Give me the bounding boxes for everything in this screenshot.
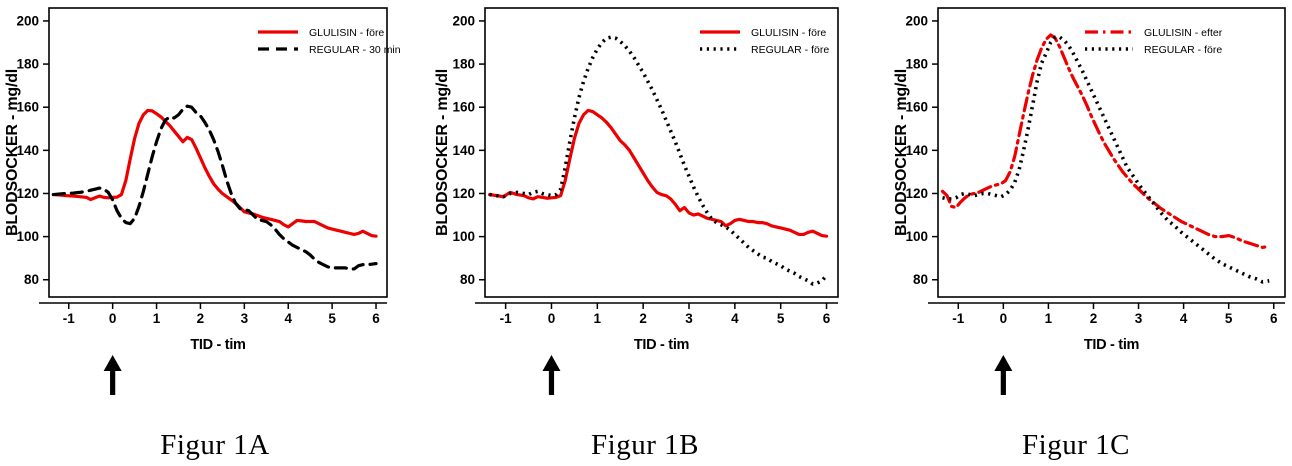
y-axis-title: BLODSOCKER - mg/dl — [4, 69, 21, 236]
x-tick-label: 6 — [372, 311, 380, 326]
x-tick-label: 4 — [731, 311, 739, 326]
plot-svg-a: 80100120140160180200-10123456TID - timBL… — [0, 0, 430, 410]
x-tick-label: 6 — [1270, 311, 1278, 326]
figure-panel-a: 80100120140160180200-10123456TID - timBL… — [0, 0, 430, 466]
meal-marker-arrow — [542, 355, 560, 395]
series-group — [490, 37, 827, 284]
y-tick-label: 160 — [452, 100, 475, 115]
legend-label-regular: REGULAR - 30 min — [309, 44, 401, 56]
legend: GLULISIN - föreREGULAR - 30 min — [258, 27, 401, 56]
caption-figur-1b: Figur 1B — [430, 429, 896, 462]
legend: GLULISIN - efterREGULAR - före — [1085, 27, 1223, 56]
x-tick-label: -1 — [63, 311, 75, 326]
chart-a: 80100120140160180200-10123456TID - timBL… — [0, 0, 430, 410]
legend-label-glulisin: GLULISIN - före — [751, 27, 826, 39]
x-tick-label: 5 — [1225, 311, 1233, 326]
x-tick-label: 3 — [241, 311, 249, 326]
meal-marker-arrow — [104, 355, 122, 395]
plot-svg-c: 80100120140160180200-10123456TID - timBL… — [860, 0, 1292, 410]
legend-label-glulisin: GLULISIN - före — [309, 27, 384, 39]
legend: GLULISIN - föreREGULAR - före — [700, 27, 829, 56]
x-tick-label: 1 — [153, 311, 161, 326]
x-tick-label: 0 — [1000, 311, 1008, 326]
meal-marker-arrow — [994, 355, 1012, 395]
y-tick-label: 200 — [16, 13, 39, 28]
x-tick-label: 0 — [548, 311, 556, 326]
series-line-glulisin — [490, 110, 827, 236]
y-tick-label: 100 — [452, 229, 475, 244]
arrow-head — [994, 355, 1012, 371]
figure-panel-b: 80100120140160180200-10123456TID - timBL… — [430, 0, 860, 466]
legend-label-regular: REGULAR - före — [751, 44, 829, 56]
x-tick-label: 4 — [284, 311, 292, 326]
x-tick-label: 5 — [328, 311, 336, 326]
plot-svg-b: 80100120140160180200-10123456TID - timBL… — [430, 0, 860, 410]
y-tick-label: 80 — [913, 272, 928, 287]
x-axis-title: TID - tim — [634, 337, 689, 353]
x-tick-label: 2 — [639, 311, 647, 326]
x-tick-label: 4 — [1180, 311, 1188, 326]
arrow-head — [542, 355, 560, 371]
y-tick-label: 180 — [452, 57, 475, 72]
x-tick-label: 1 — [1045, 311, 1053, 326]
x-tick-label: 1 — [594, 311, 602, 326]
x-tick-label: 6 — [823, 311, 831, 326]
x-tick-label: 3 — [1135, 311, 1143, 326]
figure-panels-row: 80100120140160180200-10123456TID - timBL… — [0, 0, 1292, 466]
y-tick-label: 140 — [452, 143, 475, 158]
x-axis-title: TID - tim — [190, 337, 245, 353]
series-group — [943, 35, 1270, 282]
legend-label-regular: REGULAR - före — [1144, 44, 1222, 56]
x-tick-label: -1 — [952, 311, 964, 326]
chart-c: 80100120140160180200-10123456TID - timBL… — [860, 0, 1292, 410]
x-tick-label: 2 — [197, 311, 205, 326]
series-line-regular — [490, 37, 827, 284]
x-tick-label: -1 — [500, 311, 512, 326]
x-tick-label: 2 — [1090, 311, 1098, 326]
x-tick-label: 3 — [685, 311, 693, 326]
y-tick-label: 80 — [460, 272, 475, 287]
arrow-head — [104, 355, 122, 371]
caption-figur-1c: Figur 1C — [860, 429, 1292, 462]
y-tick-label: 200 — [452, 13, 475, 28]
series-line-glulisin — [943, 35, 1270, 247]
caption-figur-1a: Figur 1A — [0, 429, 482, 462]
series-group — [53, 106, 376, 269]
y-axis-title: BLODSOCKER - mg/dl — [434, 69, 451, 236]
x-tick-label: 5 — [777, 311, 785, 326]
series-line-glulisin — [53, 110, 376, 236]
series-line-regular — [943, 37, 1270, 282]
y-tick-label: 200 — [905, 13, 928, 28]
y-tick-label: 120 — [452, 186, 475, 201]
figure-panel-c: 80100120140160180200-10123456TID - timBL… — [860, 0, 1292, 466]
legend-label-glulisin: GLULISIN - efter — [1144, 27, 1223, 39]
x-tick-label: 0 — [109, 311, 117, 326]
chart-b: 80100120140160180200-10123456TID - timBL… — [430, 0, 860, 410]
x-axis-title: TID - tim — [1084, 337, 1139, 353]
y-tick-label: 80 — [24, 272, 39, 287]
y-axis-title: BLODSOCKER - mg/dl — [893, 69, 910, 236]
